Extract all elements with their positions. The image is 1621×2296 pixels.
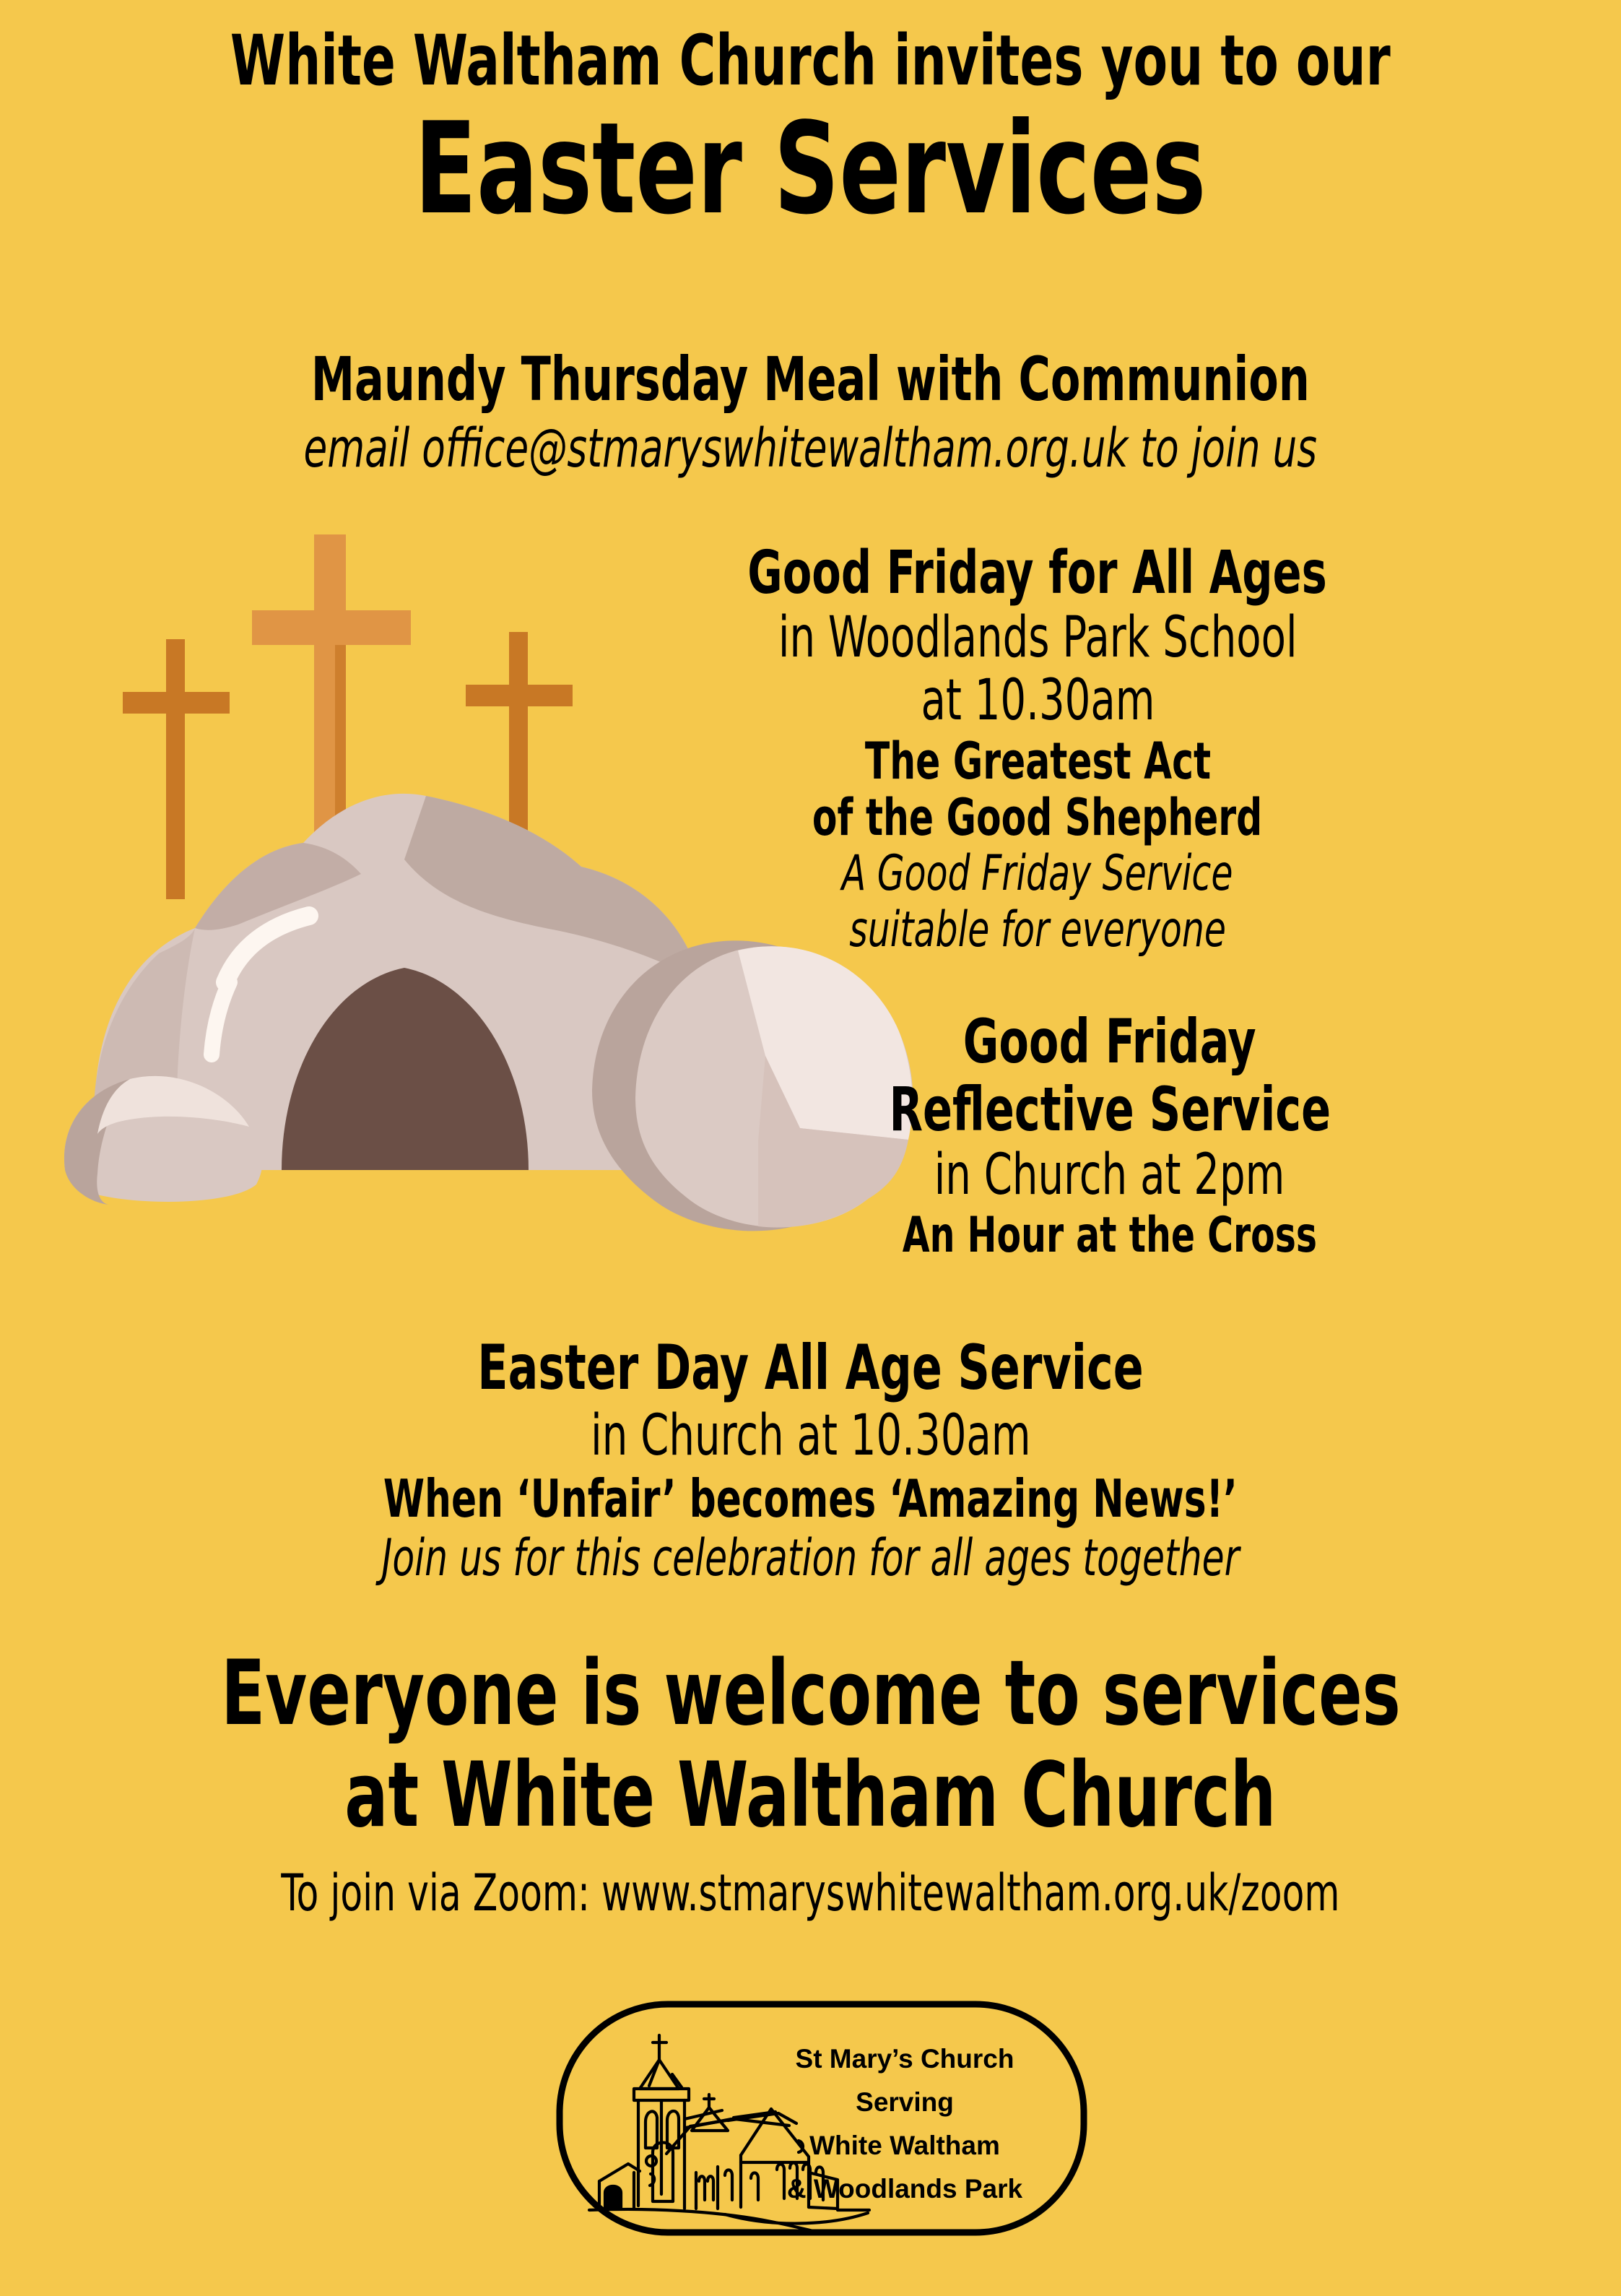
maundy-thursday-section: Maundy Thursday Meal with Communion emai… [0,347,1621,478]
easter-services-poster: White Waltham Church invites you to our … [0,0,1621,2296]
welcome-line-1-text: Everyone is welcome to services [221,1643,1401,1745]
gf-reflective-venue-time-text: in Church at 2pm [934,1143,1285,1208]
gf-allages-theme-2-text: of the Good Shepherd [812,789,1262,846]
page-title-text: Easter Services [414,103,1206,236]
gf-allages-note-1-text: A Good Friday Service [842,846,1233,902]
welcome-line-2: at White Waltham Church [0,1745,1621,1847]
gf-reflective-venue-time: in Church at 2pm [705,1143,1514,1208]
logo-line-4: & Woodlands Park [787,2174,1023,2204]
welcome-line-2-text: at White Waltham Church [344,1745,1276,1847]
invite-line-text: White Waltham Church invites you to our [230,25,1391,98]
gf-reflective-heading-line-1: Good Friday [705,1008,1514,1075]
gf-allages-note-line-1: A Good Friday Service [561,846,1514,902]
good-friday-all-ages-section: Good Friday for All Ages in Woodlands Pa… [561,540,1514,958]
poster-headline: White Waltham Church invites you to our … [0,25,1621,236]
good-friday-reflective-section: Good Friday Reflective Service in Church… [705,1008,1514,1264]
gf-reflective-heading-1-text: Good Friday [963,1008,1256,1075]
gf-allages-heading: Good Friday for All Ages [561,540,1514,607]
st-marys-church-logo: St Mary’s Church Serving White Waltham &… [555,1999,1089,2237]
gf-reflective-heading-line-2: Reflective Service [705,1075,1514,1143]
easter-day-theme-text: When ‘Unfair’ becomes ‘Amazing News!’ [383,1469,1238,1530]
logo-line-3: White Waltham [809,2131,1000,2160]
gf-reflective-theme-text: An Hour at the Cross [903,1208,1317,1264]
gf-allages-theme-line-1: The Greatest Act [561,733,1514,789]
cross-left-icon [123,639,230,899]
gf-allages-note-line-2: suitable for everyone [561,902,1514,958]
logo-line-1: St Mary’s Church [796,2044,1014,2074]
gf-allages-time-text: at 10.30am [921,670,1155,732]
easter-day-heading: Easter Day All Age Service [0,1333,1621,1403]
easter-day-section: Easter Day All Age Service in Church at … [0,1333,1621,1587]
zoom-join-line-text[interactable]: To join via Zoom: www.stmaryswhitewaltha… [281,1863,1339,1923]
easter-day-heading-text: Easter Day All Age Service [477,1333,1143,1403]
logo-svg: St Mary’s Church Serving White Waltham &… [555,1999,1089,2237]
easter-day-venue-time: in Church at 10.30am [0,1403,1621,1468]
page-title: Easter Services [0,103,1621,236]
maundy-title-text: Maundy Thursday Meal with Communion [311,347,1310,412]
welcome-line-1: Everyone is welcome to services [0,1643,1621,1745]
easter-day-venue-time-text: in Church at 10.30am [591,1403,1030,1468]
gf-allages-note-2-text: suitable for everyone [849,902,1226,958]
gf-allages-time: at 10.30am [561,670,1514,732]
easter-day-note-text: Join us for this celebration for all age… [382,1529,1240,1587]
easter-day-note: Join us for this celebration for all age… [0,1529,1621,1587]
gf-allages-theme-line-2: of the Good Shepherd [561,789,1514,846]
gf-allages-theme-1-text: The Greatest Act [864,733,1210,789]
easter-day-theme: When ‘Unfair’ becomes ‘Amazing News!’ [0,1469,1621,1530]
gf-reflective-theme: An Hour at the Cross [705,1208,1514,1264]
gf-allages-venue-text: in Woodlands Park School [778,607,1298,670]
maundy-contact-text: email office@stmaryswhitewaltham.org.uk … [304,420,1318,478]
gf-allages-venue: in Woodlands Park School [561,607,1514,670]
maundy-contact: email office@stmaryswhitewaltham.org.uk … [0,420,1621,478]
zoom-join-line[interactable]: To join via Zoom: www.stmaryswhitewaltha… [0,1863,1621,1923]
maundy-title: Maundy Thursday Meal with Communion [0,347,1621,412]
welcome-section: Everyone is welcome to services at White… [0,1643,1621,1847]
logo-line-2: Serving [856,2087,954,2117]
gf-reflective-heading-2-text: Reflective Service [889,1075,1331,1143]
gf-allages-heading-text: Good Friday for All Ages [748,540,1327,607]
invite-line: White Waltham Church invites you to our [0,25,1621,98]
logo-text-block: St Mary’s Church Serving White Waltham &… [787,2044,1023,2204]
